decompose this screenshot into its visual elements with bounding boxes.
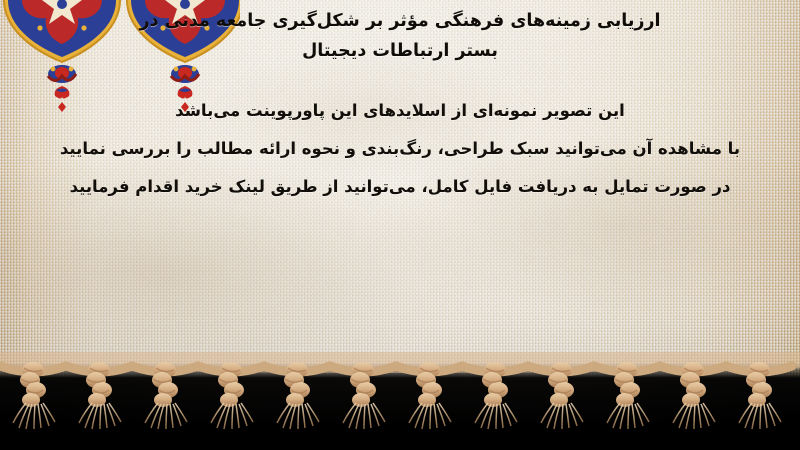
slide-canvas: ارزیابی زمینه‌های فرهنگی مؤثر بر شکل‌گیر… [0,0,800,450]
body-line-1: این تصویر نمونه‌ای از اسلایدهای این پاور… [14,92,786,130]
title-line-1: ارزیابی زمینه‌های فرهنگی مؤثر بر شکل‌گیر… [18,6,782,36]
title-body-spacer [14,66,786,92]
title-line-2: بستر ارتباطات دیجیتال [18,36,782,66]
slide-title: ارزیابی زمینه‌های فرهنگی مؤثر بر شکل‌گیر… [14,6,786,66]
carpet-fringe-tassels [0,352,800,450]
slide-text-block: ارزیابی زمینه‌های فرهنگی مؤثر بر شکل‌گیر… [0,0,800,260]
slide-body: این تصویر نمونه‌ای از اسلایدهای این پاور… [14,92,786,206]
body-line-3: در صورت تمایل به دریافت فایل کامل، می‌تو… [14,168,786,206]
body-line-2: با مشاهده آن می‌توانید سبک طراحی، رنگ‌بن… [14,130,786,168]
